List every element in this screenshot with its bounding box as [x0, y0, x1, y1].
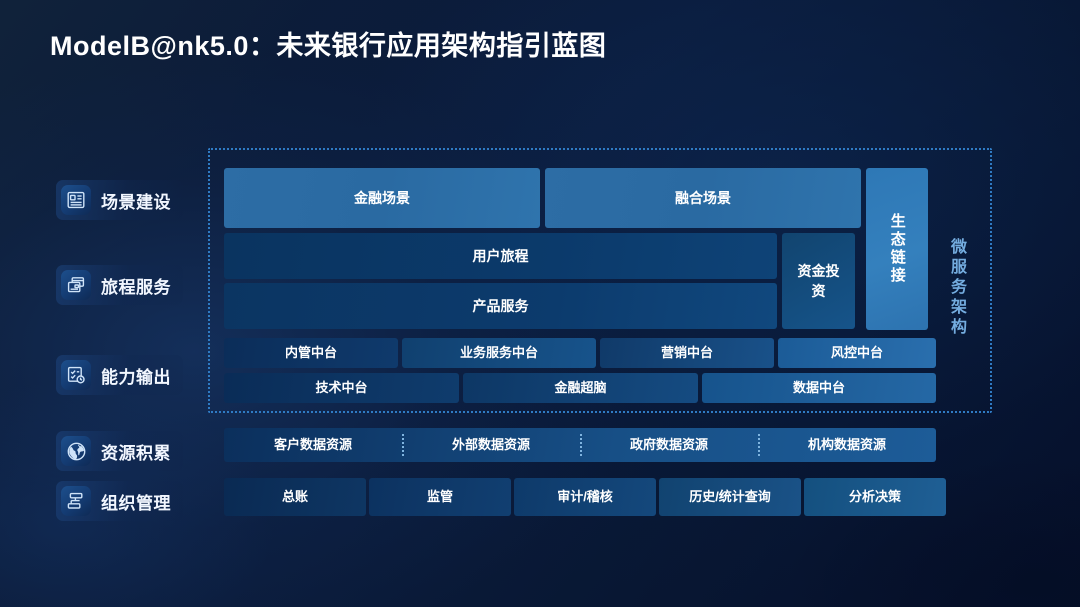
block-business-service-platform[interactable]: 业务服务中台 [402, 338, 596, 368]
card-stack-icon [61, 270, 91, 300]
block-ecosystem-link[interactable]: 生态链接 [866, 168, 928, 330]
microservice-architecture-label: 微服务架构 [944, 238, 968, 353]
globe-icon [61, 436, 91, 466]
checklist-clock-icon [61, 360, 91, 390]
resource-divider [580, 434, 582, 456]
block-fund-investment[interactable]: 资金投资 [782, 233, 855, 329]
sidebar-item-capability[interactable]: 能力输出 [56, 355, 183, 395]
block-audit-inspection[interactable]: 审计/稽核 [514, 478, 656, 516]
block-user-journey[interactable]: 用户旅程 [224, 233, 777, 279]
block-analysis-decision[interactable]: 分析决策 [804, 478, 946, 516]
org-chart-icon [61, 486, 91, 516]
resource-divider [402, 434, 404, 456]
block-financial-scene[interactable]: 金融场景 [224, 168, 540, 228]
block-financial-brain[interactable]: 金融超脑 [463, 373, 698, 403]
sidebar-item-label: 组织管理 [101, 489, 171, 514]
block-government-data-resource[interactable]: 政府数据资源 [580, 428, 758, 462]
sidebar-item-scene[interactable]: 场景建设 [56, 180, 183, 220]
block-history-statistics-query[interactable]: 历史/统计查询 [659, 478, 801, 516]
page-title: ModelB@nk5.0：未来银行应用架构指引蓝图 [50, 24, 606, 63]
layout-grid-icon [61, 185, 91, 215]
sidebar-item-resource[interactable]: 资源积累 [56, 431, 183, 471]
block-general-ledger[interactable]: 总账 [224, 478, 366, 516]
block-external-data-resource[interactable]: 外部数据资源 [402, 428, 580, 462]
block-regulation[interactable]: 监管 [369, 478, 511, 516]
block-internal-mgmt-platform[interactable]: 内管中台 [224, 338, 398, 368]
resource-divider [758, 434, 760, 456]
sidebar: 场景建设 旅程服务 能力输出 [0, 0, 215, 607]
sidebar-item-label: 资源积累 [101, 439, 171, 464]
block-fusion-scene[interactable]: 融合场景 [545, 168, 861, 228]
block-risk-control-platform[interactable]: 风控中台 [778, 338, 936, 368]
sidebar-item-label: 能力输出 [101, 363, 171, 388]
block-technology-platform[interactable]: 技术中台 [224, 373, 459, 403]
sidebar-item-organization[interactable]: 组织管理 [56, 481, 183, 521]
block-institution-data-resource[interactable]: 机构数据资源 [758, 428, 936, 462]
block-product-service[interactable]: 产品服务 [224, 283, 777, 329]
block-data-platform[interactable]: 数据中台 [702, 373, 936, 403]
sidebar-item-label: 旅程服务 [101, 273, 171, 298]
block-customer-data-resource[interactable]: 客户数据资源 [224, 428, 402, 462]
sidebar-item-journey[interactable]: 旅程服务 [56, 265, 183, 305]
sidebar-item-label: 场景建设 [101, 188, 171, 213]
block-marketing-platform[interactable]: 营销中台 [600, 338, 774, 368]
